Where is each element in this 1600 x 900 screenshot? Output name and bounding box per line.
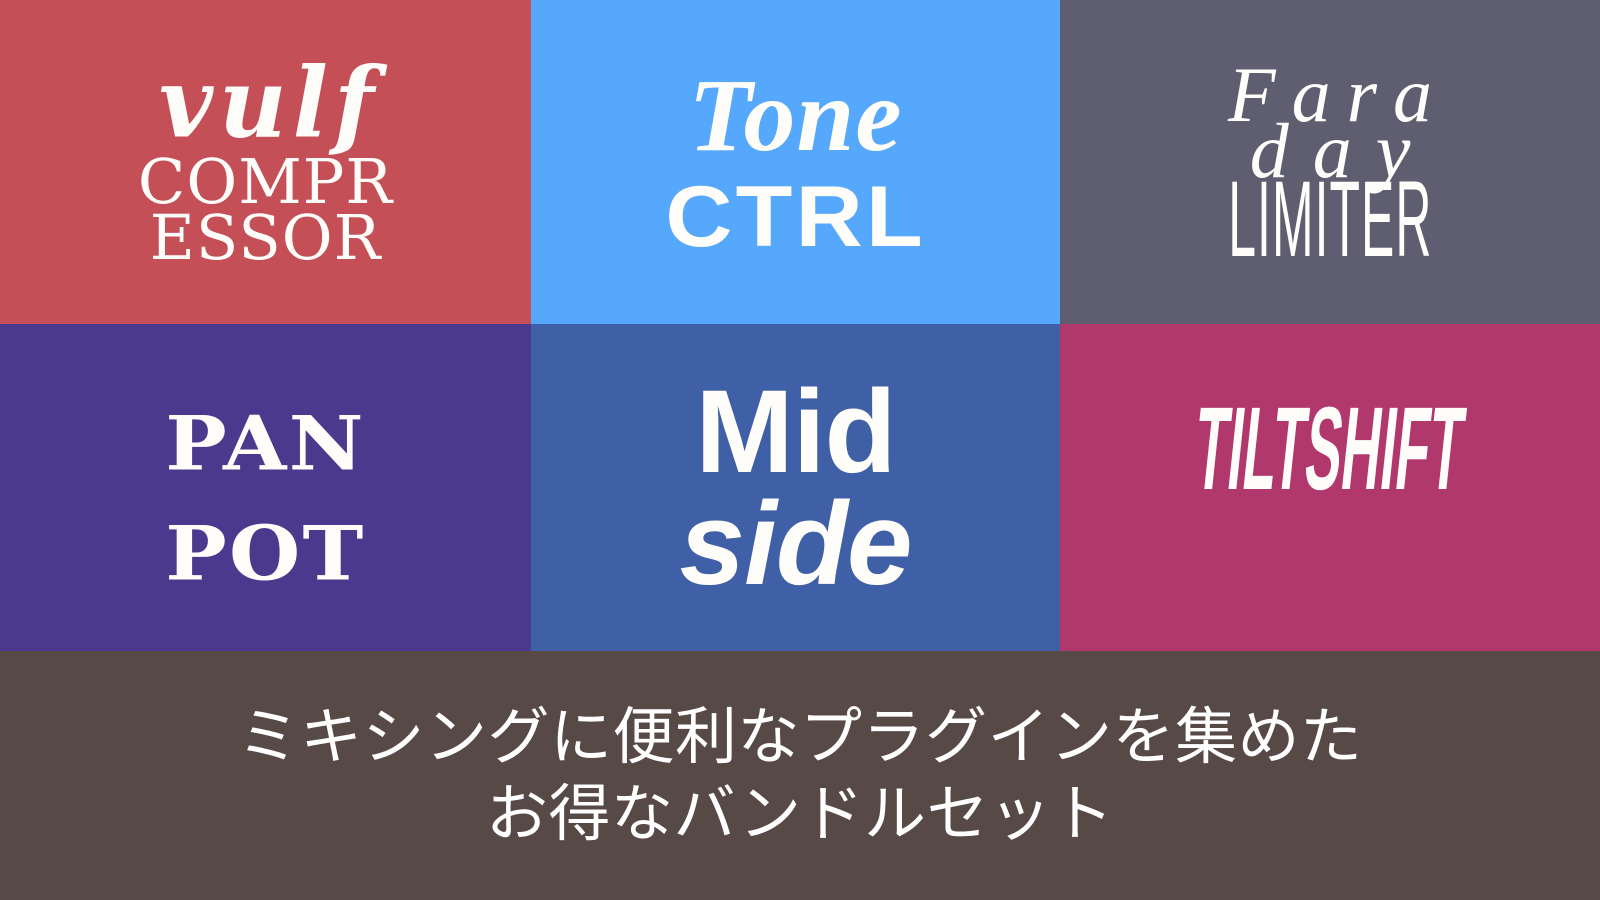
caption-line-1: ミキシングに便利なプラグインを集めた xyxy=(237,699,1362,775)
vulf-product-name: COMPR ESSOR xyxy=(138,157,393,269)
caption-bar: ミキシングに便利なプラグインを集めた お得なバンドルセット xyxy=(0,651,1600,900)
tone-brand-text: Tone xyxy=(689,64,903,168)
product-tile-faraday-limiter[interactable]: Fara day LIMITER xyxy=(1060,0,1600,324)
vulf-brand-text: vulf xyxy=(151,54,380,151)
product-tile-grid: vulf COMPR ESSOR Tone CTRL Fara day LIMI… xyxy=(0,0,1600,651)
panpot-brand-line-2: POT xyxy=(165,489,365,595)
product-tile-vulf-compressor[interactable]: vulf COMPR ESSOR xyxy=(0,0,531,324)
vulf-product-line-2: ESSOR xyxy=(138,207,393,269)
product-tile-tiltshift[interactable]: TILTSHIFT xyxy=(1060,324,1600,651)
product-tile-pan-pot[interactable]: PAN POT xyxy=(0,324,531,651)
caption-line-2: お得なバンドルセット xyxy=(486,776,1114,852)
product-tile-tone-ctrl[interactable]: Tone CTRL xyxy=(531,0,1060,324)
promo-banner: vulf COMPR ESSOR Tone CTRL Fara day LIMI… xyxy=(0,0,1600,900)
faraday-product-name: LIMITER xyxy=(1228,166,1432,274)
product-tile-mid-side[interactable]: Mid side xyxy=(531,324,1060,651)
tiltshift-brand-text: TILTSHIFT xyxy=(1190,390,1470,508)
tone-product-name: CTRL xyxy=(665,174,926,260)
midside-brand-text: Mid xyxy=(695,373,895,491)
panpot-brand-line-1: PAN xyxy=(165,379,365,485)
midside-product-name: side xyxy=(679,485,911,603)
